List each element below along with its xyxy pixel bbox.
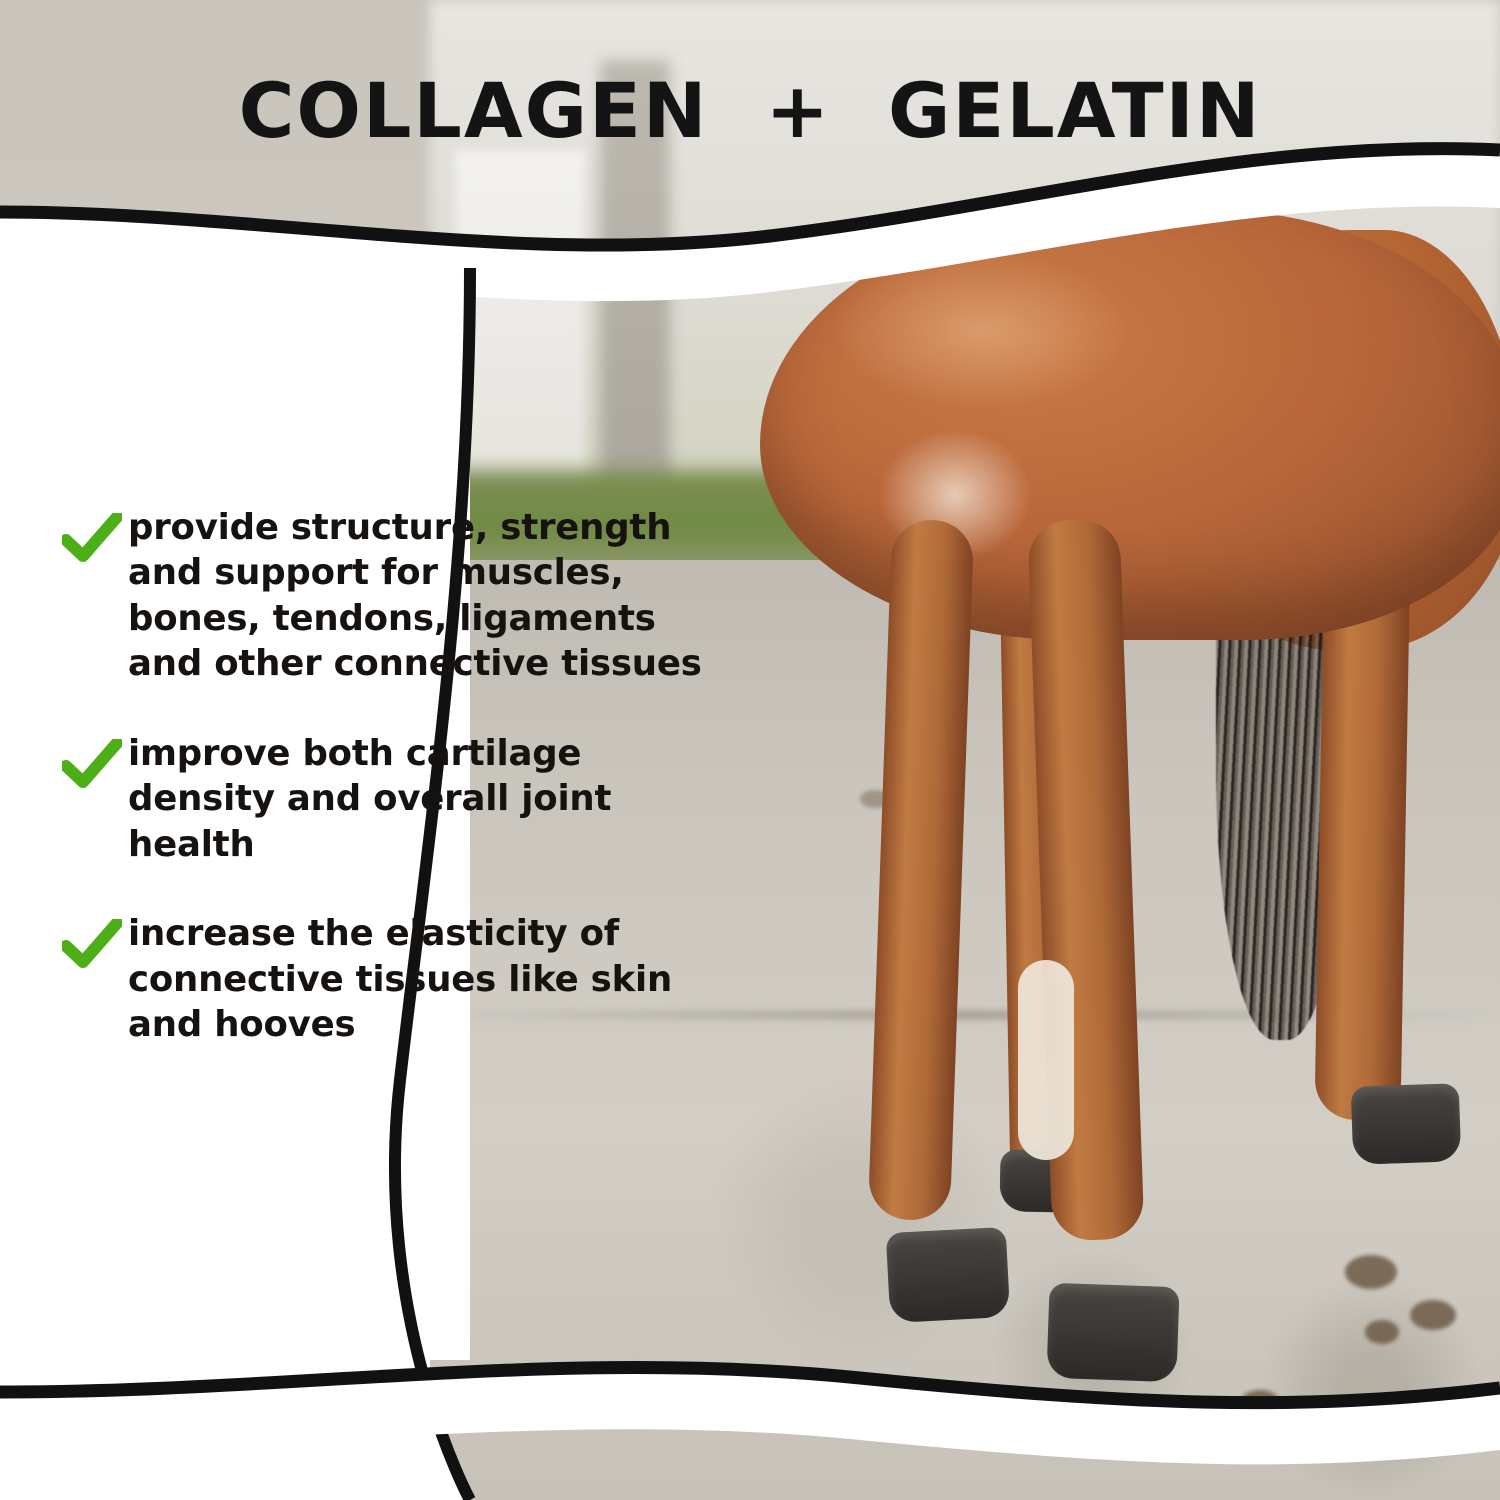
- list-item-text: increase the elasticity of connective ti…: [128, 911, 672, 1047]
- benefits-list: provide structure, strength and support …: [62, 505, 762, 1091]
- check-icon: [62, 919, 128, 975]
- product-infographic-poster: COLLAGEN + GELATIN provide structure, st…: [0, 0, 1500, 1500]
- list-item-text: improve both cartilage density and overa…: [128, 731, 611, 867]
- list-item-text: provide structure, strength and support …: [128, 505, 702, 687]
- list-item: provide structure, strength and support …: [62, 505, 762, 687]
- check-icon: [62, 739, 128, 795]
- page-title: COLLAGEN + GELATIN: [0, 66, 1500, 155]
- list-item: improve both cartilage density and overa…: [62, 731, 762, 867]
- check-icon: [62, 513, 128, 569]
- list-item: increase the elasticity of connective ti…: [62, 911, 762, 1047]
